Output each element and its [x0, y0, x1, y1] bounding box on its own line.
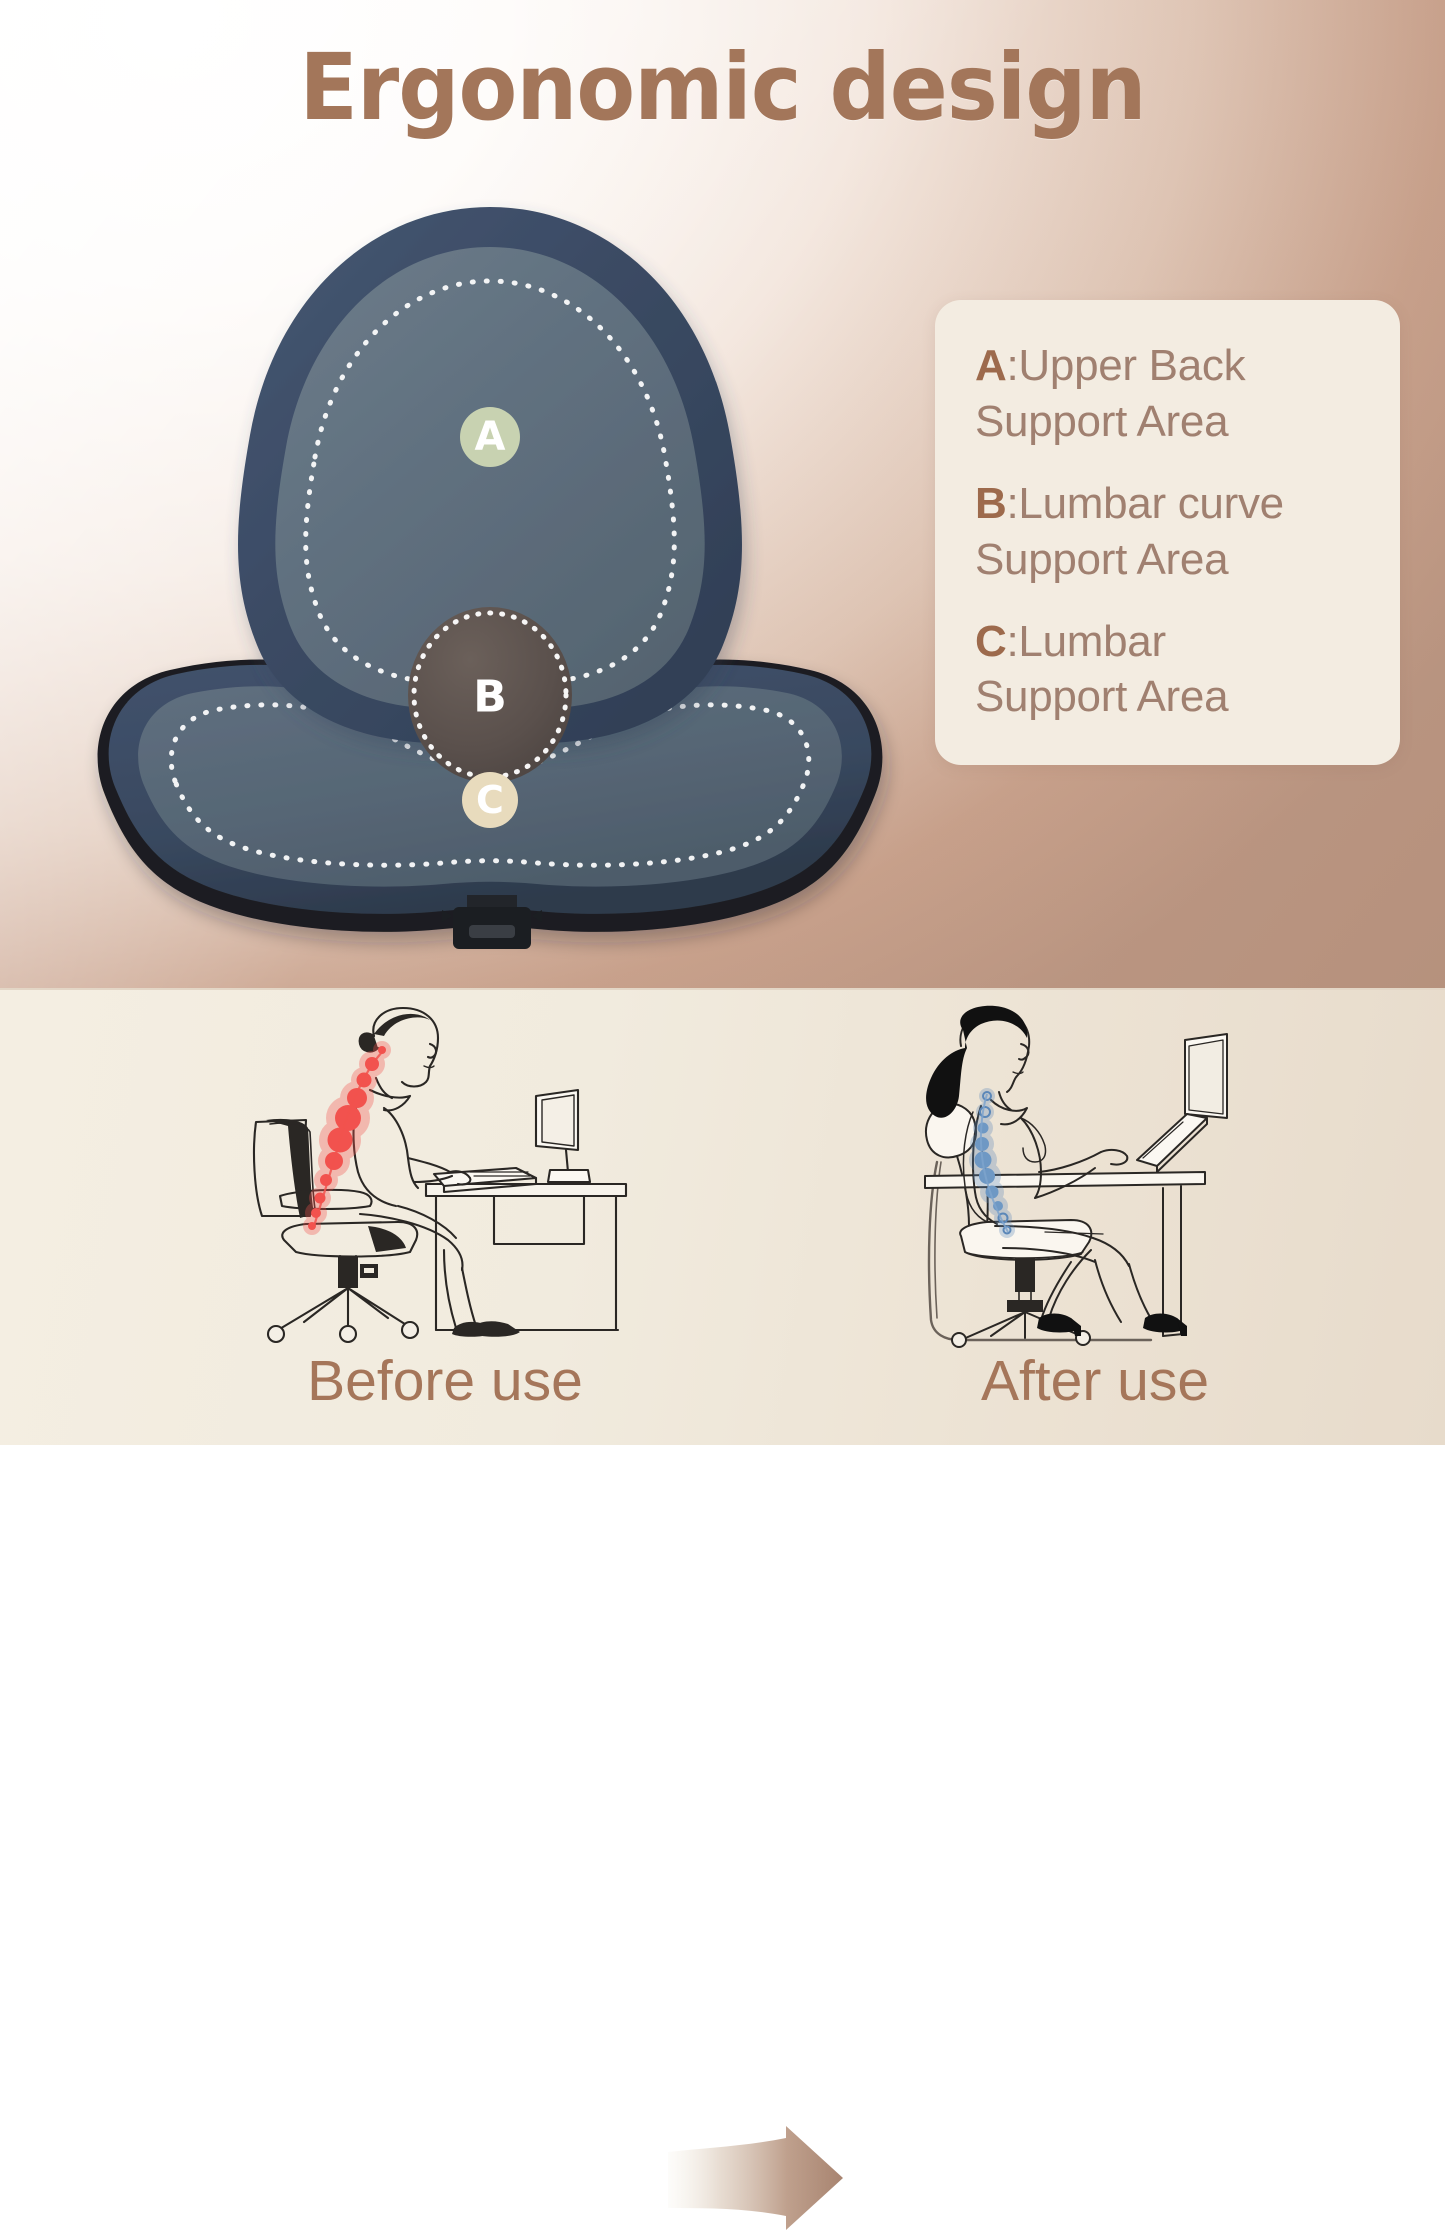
- legend-item-b: B:Lumbar curve Support Area: [975, 476, 1366, 588]
- caption-before-use: Before use: [230, 1348, 660, 1414]
- page-title: Ergonomic design: [51, 34, 1395, 141]
- svg-text:C: C: [476, 778, 504, 822]
- legend-sep-a: :: [1006, 341, 1018, 390]
- legend-text-c-1: Lumbar: [1018, 617, 1165, 666]
- legend-text-a-1: Upper Back: [1018, 341, 1245, 390]
- spine-indicator-red: [303, 1041, 391, 1235]
- legend-key-c: C: [975, 617, 1006, 666]
- badge-b: B: [473, 672, 507, 723]
- badge-a: A: [460, 407, 520, 467]
- support-area-legend: A:Upper Back Support Area B:Lumbar curve…: [935, 300, 1400, 765]
- legend-sep-c: :: [1006, 617, 1018, 666]
- transition-arrow-icon: [668, 2126, 843, 2238]
- legend-line-a-2: Support Area: [975, 394, 1366, 450]
- legend-line-a-1: A:Upper Back: [975, 338, 1366, 394]
- svg-text:B: B: [473, 672, 507, 723]
- caption-after-use: After use: [880, 1348, 1310, 1414]
- legend-item-a: A:Upper Back Support Area: [975, 338, 1366, 450]
- legend-item-c: C:Lumbar Support Area: [975, 614, 1366, 726]
- after-use-illustration: [895, 1000, 1295, 1350]
- legend-line-c-2: Support Area: [975, 669, 1366, 725]
- legend-line-c-1: C:Lumbar: [975, 614, 1366, 670]
- legend-line-b-1: B:Lumbar curve: [975, 476, 1366, 532]
- badge-c: C: [462, 772, 518, 828]
- before-use-illustration: [248, 1000, 648, 1350]
- legend-line-b-2: Support Area: [975, 532, 1366, 588]
- legend-sep-b: :: [1006, 479, 1018, 528]
- product-image: A B C: [75, 185, 905, 975]
- svg-text:A: A: [475, 414, 506, 460]
- product-hero-panel: Ergonomic design: [0, 0, 1445, 988]
- legend-key-b: B: [975, 479, 1006, 528]
- legend-key-a: A: [975, 341, 1006, 390]
- legend-text-b-1: Lumbar curve: [1018, 479, 1283, 528]
